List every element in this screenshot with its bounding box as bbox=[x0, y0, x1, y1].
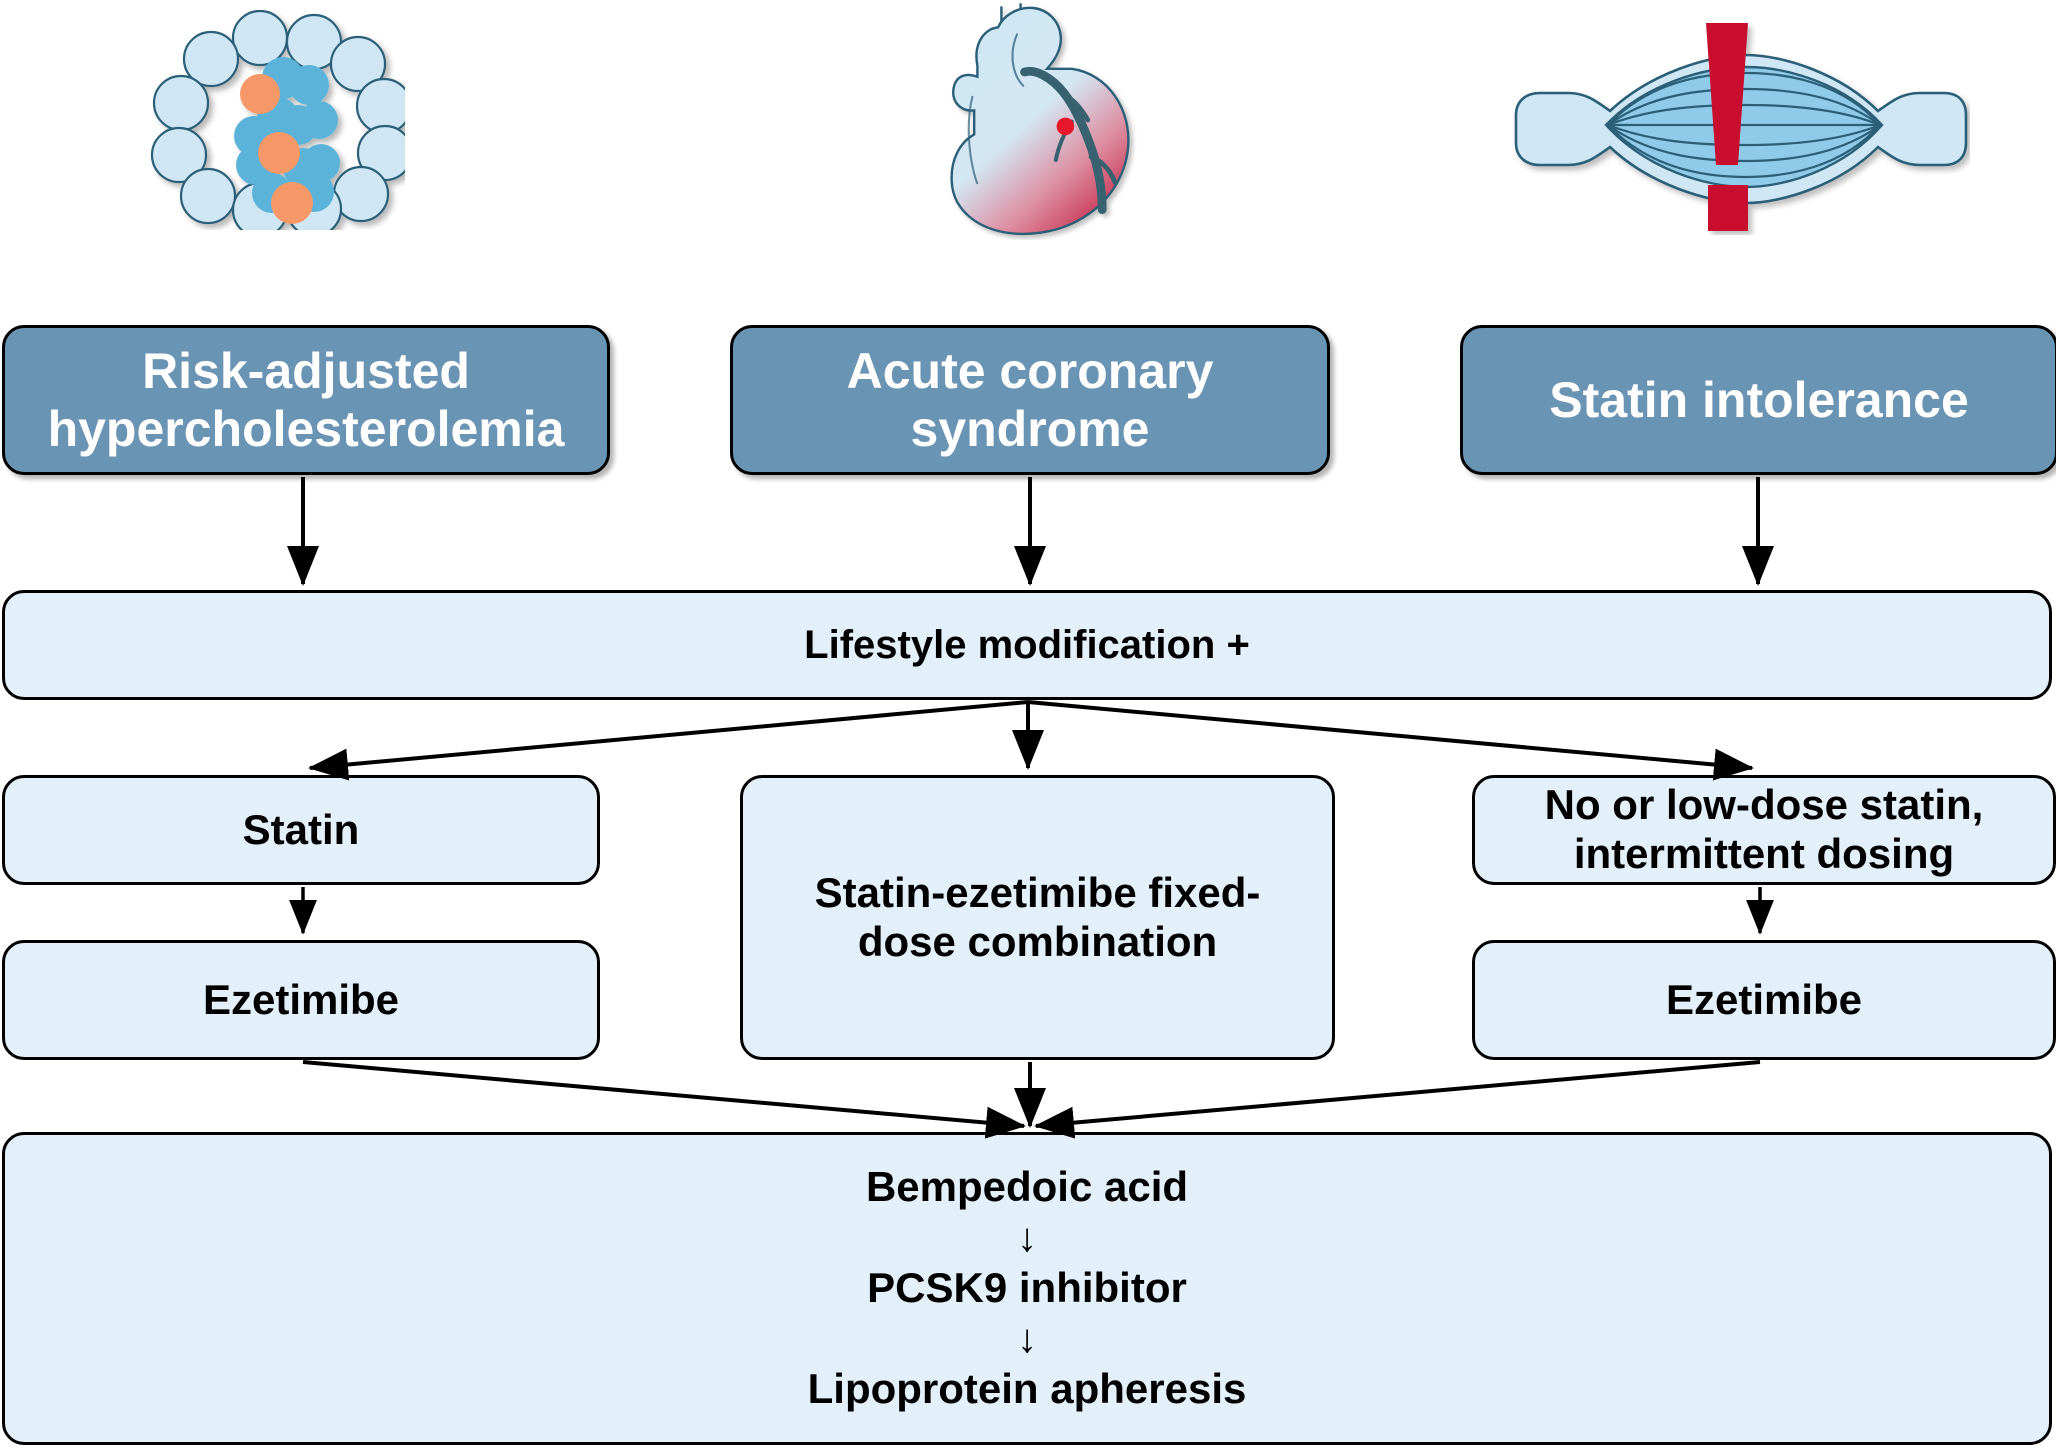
treatment-box-low-dose-statin[interactable]: No or low-dose statin, intermittent dosi… bbox=[1472, 775, 2056, 885]
lipoprotein-particle-icon bbox=[115, 10, 405, 230]
escalation-arrow-2-icon: ↓ bbox=[1017, 1319, 1037, 1359]
header-label-statin-intolerance: Statin intolerance bbox=[1549, 371, 1969, 429]
escalation-step-pcsk9-inhibitor: PCSK9 inhibitor bbox=[867, 1264, 1187, 1313]
treatment-box-ezetimibe-right[interactable]: Ezetimibe bbox=[1472, 940, 2056, 1060]
arrow-lifestyle-to-statin bbox=[310, 702, 1028, 768]
header-box-risk-adjusted[interactable]: Risk-adjusted hypercholesterolemia bbox=[2, 325, 610, 475]
escalation-step-bempedoic-acid: Bempedoic acid bbox=[866, 1163, 1188, 1212]
escalation-step-lipoprotein-apheresis: Lipoprotein apheresis bbox=[808, 1365, 1247, 1414]
heart-ischemia-icon bbox=[890, 0, 1180, 240]
header-box-statin-intolerance[interactable]: Statin intolerance bbox=[1460, 325, 2056, 475]
escalation-arrow-1-icon: ↓ bbox=[1017, 1218, 1037, 1258]
treatment-label-low-dose-statin: No or low-dose statin, intermittent dosi… bbox=[1495, 781, 2033, 878]
lifestyle-modification-band[interactable]: Lifestyle modification + bbox=[2, 590, 2052, 700]
treatment-label-ezetimibe-right: Ezetimibe bbox=[1666, 976, 1862, 1025]
treatment-label-ezetimibe-left: Ezetimibe bbox=[203, 976, 399, 1025]
header-label-acute-coronary: Acute coronary syndrome bbox=[733, 342, 1327, 458]
arrow-lifestyle-to-low-dose bbox=[1028, 702, 1752, 768]
escalation-box[interactable]: Bempedoic acid ↓ PCSK9 inhibitor ↓ Lipop… bbox=[2, 1132, 2052, 1445]
arrow-ezetimibe-right-to-escalation bbox=[1036, 1062, 1760, 1126]
muscle-warning-icon bbox=[1510, 15, 1970, 235]
header-box-acute-coronary[interactable]: Acute coronary syndrome bbox=[730, 325, 1330, 475]
treatment-label-statin: Statin bbox=[243, 806, 360, 855]
header-label-risk-adjusted: Risk-adjusted hypercholesterolemia bbox=[5, 342, 607, 458]
figure-canvas: Risk-adjusted hypercholesterolemia Acute… bbox=[0, 0, 2056, 1449]
treatment-box-ezetimibe-left[interactable]: Ezetimibe bbox=[2, 940, 600, 1060]
treatment-label-fixed-dose-combination: Statin-ezetimibe fixed-dose combination bbox=[777, 869, 1298, 966]
lifestyle-modification-label: Lifestyle modification + bbox=[804, 622, 1250, 668]
treatment-box-fixed-dose-combination[interactable]: Statin-ezetimibe fixed-dose combination bbox=[740, 775, 1335, 1060]
arrow-ezetimibe-left-to-escalation bbox=[303, 1062, 1024, 1126]
treatment-box-statin[interactable]: Statin bbox=[2, 775, 600, 885]
